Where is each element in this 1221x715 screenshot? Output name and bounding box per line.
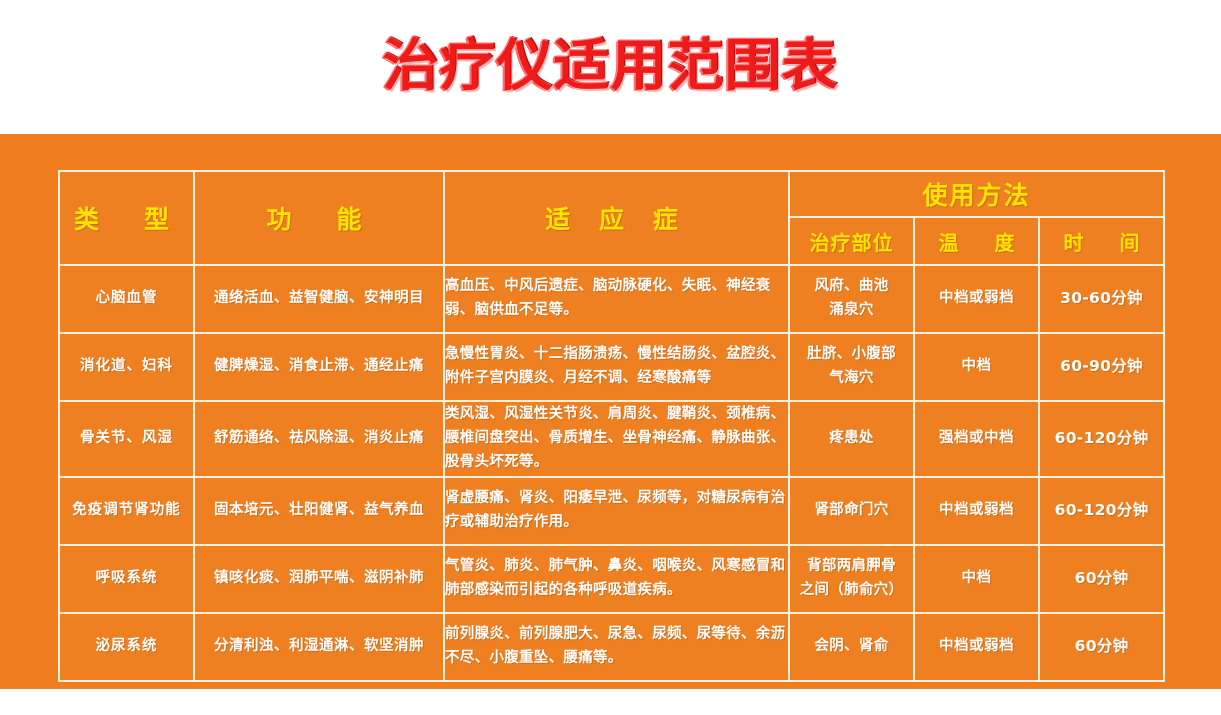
page-root: 治疗仪适用范围表 类 型 功 能 适 应 症 使用方法 治疗部位 温 度 时 间: [0, 0, 1221, 715]
cell-time: 60-120分钟: [1039, 477, 1164, 545]
cell-time: 60分钟: [1039, 613, 1164, 681]
table-row: 消化道、妇科健脾燥湿、消食止滞、通经止痛急慢性胃炎、十二指肠溃疡、慢性结肠炎、盆…: [59, 333, 1164, 401]
table-row: 心脑血管通络活血、益智健脑、安神明目高血压、中风后遗症、脑动脉硬化、失眠、神经衰…: [59, 265, 1164, 333]
applicable-range-table-wrap: 类 型 功 能 适 应 症 使用方法 治疗部位 温 度 时 间 心脑血管通络活血…: [58, 170, 1163, 682]
table-row: 泌尿系统分清利浊、利湿通淋、软坚消肿前列腺炎、前列腺肥大、尿急、尿频、尿等待、余…: [59, 613, 1164, 681]
cell-temperature: 中档: [914, 333, 1039, 401]
cell-function: 分清利浊、利湿通淋、软坚消肿: [194, 613, 444, 681]
column-header-treatment-part: 治疗部位: [789, 217, 914, 265]
cell-symptoms: 类风湿、风湿性关节炎、肩周炎、腱鞘炎、颈椎病、腰椎间盘突出、骨质增生、坐骨神经痛…: [444, 401, 789, 477]
cell-time: 60-90分钟: [1039, 333, 1164, 401]
cell-time: 60分钟: [1039, 545, 1164, 613]
table-row: 呼吸系统镇咳化痰、润肺平喘、滋阴补肺气管炎、肺炎、肺气肿、鼻炎、咽喉炎、风寒感冒…: [59, 545, 1164, 613]
cell-treatment-part: 肾部命门穴: [789, 477, 914, 545]
cell-type: 消化道、妇科: [59, 333, 194, 401]
cell-symptoms: 前列腺炎、前列腺肥大、尿急、尿频、尿等待、余沥不尽、小腹重坠、腰痛等。: [444, 613, 789, 681]
cell-temperature: 中档: [914, 545, 1039, 613]
cell-symptoms: 急慢性胃炎、十二指肠溃疡、慢性结肠炎、盆腔炎、附件子宫内膜炎、月经不调、经寒酸痛…: [444, 333, 789, 401]
table-head: 类 型 功 能 适 应 症 使用方法 治疗部位 温 度 时 间: [59, 171, 1164, 265]
column-header-time: 时 间: [1039, 217, 1164, 265]
cell-symptoms: 气管炎、肺炎、肺气肿、鼻炎、咽喉炎、风寒感冒和肺部感染而引起的各种呼吸道疾病。: [444, 545, 789, 613]
cell-temperature: 中档或弱档: [914, 613, 1039, 681]
cell-treatment-part: 肚脐、小腹部气海穴: [789, 333, 914, 401]
cell-type: 呼吸系统: [59, 545, 194, 613]
page-title: 治疗仪适用范围表: [383, 39, 839, 95]
cell-temperature: 中档或弱档: [914, 477, 1039, 545]
title-bar: 治疗仪适用范围表: [0, 0, 1221, 134]
column-header-usage-method: 使用方法: [789, 171, 1164, 217]
column-header-temperature: 温 度: [914, 217, 1039, 265]
cell-time: 60-120分钟: [1039, 401, 1164, 477]
table-body: 心脑血管通络活血、益智健脑、安神明目高血压、中风后遗症、脑动脉硬化、失眠、神经衰…: [59, 265, 1164, 681]
cell-type: 泌尿系统: [59, 613, 194, 681]
cell-treatment-part: 会阴、肾俞: [789, 613, 914, 681]
cell-function: 健脾燥湿、消食止滞、通经止痛: [194, 333, 444, 401]
column-header-type: 类 型: [59, 171, 194, 265]
cell-time: 30-60分钟: [1039, 265, 1164, 333]
column-header-symptoms: 适 应 症: [444, 171, 789, 265]
cell-type: 骨关节、风湿: [59, 401, 194, 477]
cell-treatment-part: 风府、曲池涌泉穴: [789, 265, 914, 333]
cell-type: 心脑血管: [59, 265, 194, 333]
cell-function: 舒筋通络、祛风除湿、消炎止痛: [194, 401, 444, 477]
cell-treatment-part: 疼患处: [789, 401, 914, 477]
column-header-function: 功 能: [194, 171, 444, 265]
cell-treatment-part: 背部两肩胛骨之间（肺俞穴）: [789, 545, 914, 613]
cell-symptoms: 高血压、中风后遗症、脑动脉硬化、失眠、神经衰弱、脑供血不足等。: [444, 265, 789, 333]
table-row: 免疫调节肾功能固本培元、壮阳健肾、益气养血肾虚腰痛、肾炎、阳痿早泄、尿频等，对糖…: [59, 477, 1164, 545]
cell-function: 镇咳化痰、润肺平喘、滋阴补肺: [194, 545, 444, 613]
table-header-row-1: 类 型 功 能 适 应 症 使用方法: [59, 171, 1164, 217]
cell-temperature: 中档或弱档: [914, 265, 1039, 333]
cell-function: 固本培元、壮阳健肾、益气养血: [194, 477, 444, 545]
cell-temperature: 强档或中档: [914, 401, 1039, 477]
cell-type: 免疫调节肾功能: [59, 477, 194, 545]
applicable-range-table: 类 型 功 能 适 应 症 使用方法 治疗部位 温 度 时 间 心脑血管通络活血…: [58, 170, 1165, 682]
cell-function: 通络活血、益智健脑、安神明目: [194, 265, 444, 333]
cell-symptoms: 肾虚腰痛、肾炎、阳痿早泄、尿频等，对糖尿病有治疗或辅助治疗作用。: [444, 477, 789, 545]
table-row: 骨关节、风湿舒筋通络、祛风除湿、消炎止痛类风湿、风湿性关节炎、肩周炎、腱鞘炎、颈…: [59, 401, 1164, 477]
